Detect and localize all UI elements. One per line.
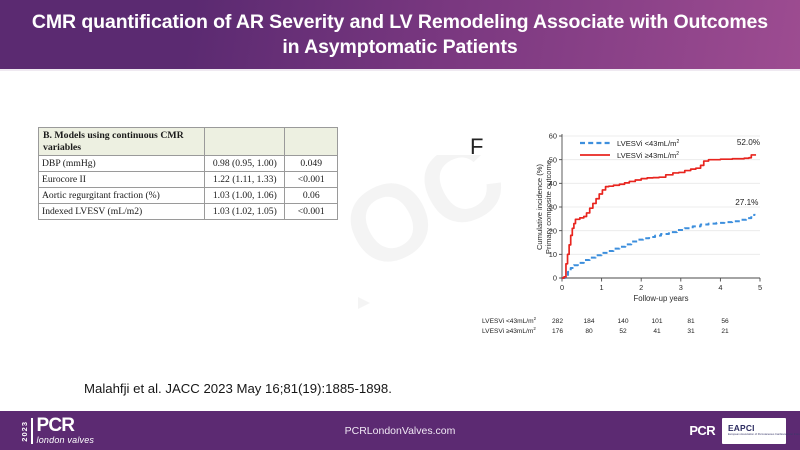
row-variable: Aortic regurgitant fraction (%) bbox=[39, 188, 205, 204]
header-underline bbox=[0, 69, 800, 71]
risk-count: 140 bbox=[606, 318, 640, 325]
risk-count: 52 bbox=[606, 328, 640, 335]
svg-text:LVESVi ≥43mL/m2: LVESVi ≥43mL/m2 bbox=[617, 151, 679, 160]
svg-text:0: 0 bbox=[560, 283, 564, 292]
risk-count: 56 bbox=[708, 318, 742, 325]
svg-text:Cumulative incidence (%): Cumulative incidence (%) bbox=[535, 163, 544, 250]
risk-count: 41 bbox=[640, 328, 674, 335]
risk-count: 101 bbox=[640, 318, 674, 325]
svg-text:27.1%: 27.1% bbox=[735, 198, 758, 207]
footer-right-logos: PCR EAPCI European Association of Percut… bbox=[689, 417, 786, 444]
table-row: Eurocore II 1.22 (1.11, 1.33) <0.001 bbox=[39, 172, 338, 188]
table-row: Indexed LVESV (mL/m2) 1.03 (1.02, 1.05) … bbox=[39, 204, 338, 220]
logo-brand-sub: london valves bbox=[37, 435, 95, 445]
risk-count: 80 bbox=[572, 328, 606, 335]
numbers-at-risk-table: LVESVi <43mL/m2 282 184 140 101 81 56 LV… bbox=[482, 316, 768, 336]
logo-year: 2023 bbox=[20, 421, 29, 442]
row-pvalue: 0.049 bbox=[285, 156, 338, 172]
svg-text:1: 1 bbox=[600, 283, 604, 292]
eapci-text-block: EAPCI European Association of Percutaneo… bbox=[728, 424, 800, 436]
svg-text:4: 4 bbox=[718, 283, 722, 292]
table-row: Aortic regurgitant fraction (%) 1.03 (1.… bbox=[39, 188, 338, 204]
risk-row-label-high: LVESVi ≥43mL/m2 bbox=[482, 326, 552, 335]
svg-text:0: 0 bbox=[553, 274, 557, 283]
eapci-subtitle: European Association of Percutaneous Car… bbox=[728, 433, 800, 436]
svg-text:60: 60 bbox=[549, 132, 557, 141]
svg-text:Follow-up years: Follow-up years bbox=[633, 294, 688, 303]
page-title: CMR quantification of AR Severity and LV… bbox=[24, 10, 776, 60]
risk-count: 81 bbox=[674, 318, 708, 325]
svg-text:5: 5 bbox=[758, 283, 762, 292]
eapci-name: EAPCI bbox=[728, 424, 800, 433]
cumulative-incidence-chart: 0102030405060012345Follow-up yearsCumula… bbox=[462, 126, 768, 316]
table-header-pvalue bbox=[285, 128, 338, 156]
svg-text:3: 3 bbox=[679, 283, 683, 292]
logo-brand: PCR london valves bbox=[37, 417, 95, 445]
figure-panel-f: F 0102030405060012345Follow-up yearsCumu… bbox=[462, 126, 768, 366]
row-pvalue: 0.06 bbox=[285, 188, 338, 204]
svg-text:2: 2 bbox=[639, 283, 643, 292]
risk-count: 31 bbox=[674, 328, 708, 335]
logo-brand-name: PCR bbox=[37, 417, 95, 435]
row-variable: Indexed LVESV (mL/m2) bbox=[39, 204, 205, 220]
svg-text:52.0%: 52.0% bbox=[737, 138, 760, 147]
pcr-small-logo: PCR bbox=[689, 423, 715, 438]
table-row: DBP (mmHg) 0.98 (0.95, 1.00) 0.049 bbox=[39, 156, 338, 172]
risk-row: LVESVi <43mL/m2 282 184 140 101 81 56 bbox=[482, 316, 768, 326]
row-estimate: 1.22 (1.11, 1.33) bbox=[205, 172, 285, 188]
row-variable: DBP (mmHg) bbox=[39, 156, 205, 172]
table-body: B. Models using continuous CMR variables… bbox=[39, 128, 338, 220]
row-estimate: 1.03 (1.00, 1.06) bbox=[205, 188, 285, 204]
pcr-london-valves-logo: 2023 PCR london valves bbox=[20, 416, 94, 446]
slide-header: CMR quantification of AR Severity and LV… bbox=[0, 0, 800, 69]
footer-url: PCRLondonValves.com bbox=[0, 411, 800, 450]
row-estimate: 0.98 (0.95, 1.00) bbox=[205, 156, 285, 172]
row-estimate: 1.03 (1.02, 1.05) bbox=[205, 204, 285, 220]
eapci-logo: EAPCI European Association of Percutaneo… bbox=[722, 418, 786, 444]
table-header-estimate bbox=[205, 128, 285, 156]
svg-text:LVESVi <43mL/m2: LVESVi <43mL/m2 bbox=[617, 139, 679, 148]
row-variable: Eurocore II bbox=[39, 172, 205, 188]
cmr-models-table: B. Models using continuous CMR variables… bbox=[38, 127, 338, 220]
table-header-label: B. Models using continuous CMR variables bbox=[39, 128, 205, 156]
risk-row: LVESVi ≥43mL/m2 176 80 52 41 31 21 bbox=[482, 326, 768, 336]
row-pvalue: <0.001 bbox=[285, 204, 338, 220]
risk-count: 184 bbox=[572, 318, 606, 325]
row-pvalue: <0.001 bbox=[285, 172, 338, 188]
logo-divider bbox=[31, 418, 33, 444]
citation-text: Malahfji et al. JACC 2023 May 16;81(19):… bbox=[84, 381, 392, 396]
svg-text:Primary composite outcome: Primary composite outcome bbox=[544, 160, 553, 254]
table-header-row: B. Models using continuous CMR variables bbox=[39, 128, 338, 156]
risk-count: 282 bbox=[552, 318, 572, 325]
slide-footer: PCRLondonValves.com 2023 PCR london valv… bbox=[0, 411, 800, 450]
chart-svg: 0102030405060012345Follow-up yearsCumula… bbox=[462, 126, 768, 316]
risk-count: 21 bbox=[708, 328, 742, 335]
risk-row-label-low: LVESVi <43mL/m2 bbox=[482, 316, 552, 325]
risk-count: 176 bbox=[552, 328, 572, 335]
